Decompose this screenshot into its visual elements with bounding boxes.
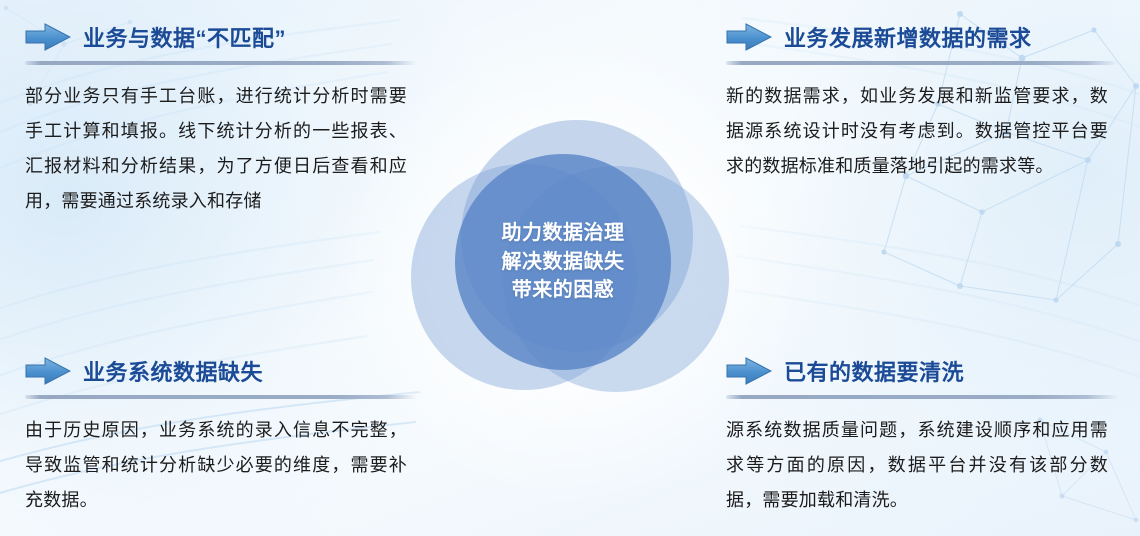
center-caption-line-3: 带来的困惑 xyxy=(512,276,615,304)
arrow-right-icon xyxy=(25,357,71,385)
panel-title: 业务系统数据缺失 xyxy=(83,355,263,387)
arrow-right-icon xyxy=(726,23,772,51)
panel-new-data-demand: 业务发展新增数据的需求 新的数据需求，如业务发展和新监管要求，数据源系统设计时没… xyxy=(726,18,1126,184)
panel-existing-data-cleaning: 已有的数据要清洗 源系统数据质量问题，系统建设顺序和应用需求等方面的原因，数据平… xyxy=(726,352,1126,518)
panel-business-data-mismatch: 业务与数据“不匹配” 部分业务只有手工台账，进行统计分析时需要手工计算和填报。线… xyxy=(25,18,425,219)
arrow-right-icon xyxy=(726,357,772,385)
slide-canvas: 助力数据治理 解决数据缺失 带来的困惑 业务与数据“不匹配” 部分业务只有手工台… xyxy=(0,0,1140,536)
panel-header: 已有的数据要清洗 xyxy=(726,352,1126,390)
panel-header: 业务系统数据缺失 xyxy=(25,352,425,390)
panel-divider xyxy=(726,61,1118,65)
panel-header: 业务与数据“不匹配” xyxy=(25,18,425,56)
panel-divider xyxy=(25,61,417,65)
panel-divider xyxy=(726,395,1118,399)
panel-missing-system-data: 业务系统数据缺失 由于历史原因，业务系统的录入信息不完整，导致监管和统计分析缺少… xyxy=(25,352,425,518)
panel-divider xyxy=(25,395,417,399)
center-caption-line-1: 助力数据治理 xyxy=(502,219,625,247)
panel-title: 业务发展新增数据的需求 xyxy=(784,21,1032,53)
arrow-right-icon xyxy=(25,23,71,51)
center-circle-cluster: 助力数据治理 解决数据缺失 带来的困惑 xyxy=(403,120,733,400)
panel-header: 业务发展新增数据的需求 xyxy=(726,18,1126,56)
center-caption: 助力数据治理 解决数据缺失 带来的困惑 xyxy=(455,154,671,370)
panel-title: 已有的数据要清洗 xyxy=(784,355,964,387)
panel-body-text: 新的数据需求，如业务发展和新监管要求，数据源系统设计时没有考虑到。数据管控平台要… xyxy=(726,79,1108,184)
panel-body-text: 部分业务只有手工台账，进行统计分析时需要手工计算和填报。线下统计分析的一些报表、… xyxy=(25,79,407,219)
panel-title: 业务与数据“不匹配” xyxy=(83,21,286,53)
panel-body-text: 源系统数据质量问题，系统建设顺序和应用需求等方面的原因，数据平台并没有该部分数据… xyxy=(726,413,1108,518)
panel-body-text: 由于历史原因，业务系统的录入信息不完整，导致监管和统计分析缺少必要的维度，需要补… xyxy=(25,413,407,518)
center-caption-line-2: 解决数据缺失 xyxy=(502,248,625,276)
